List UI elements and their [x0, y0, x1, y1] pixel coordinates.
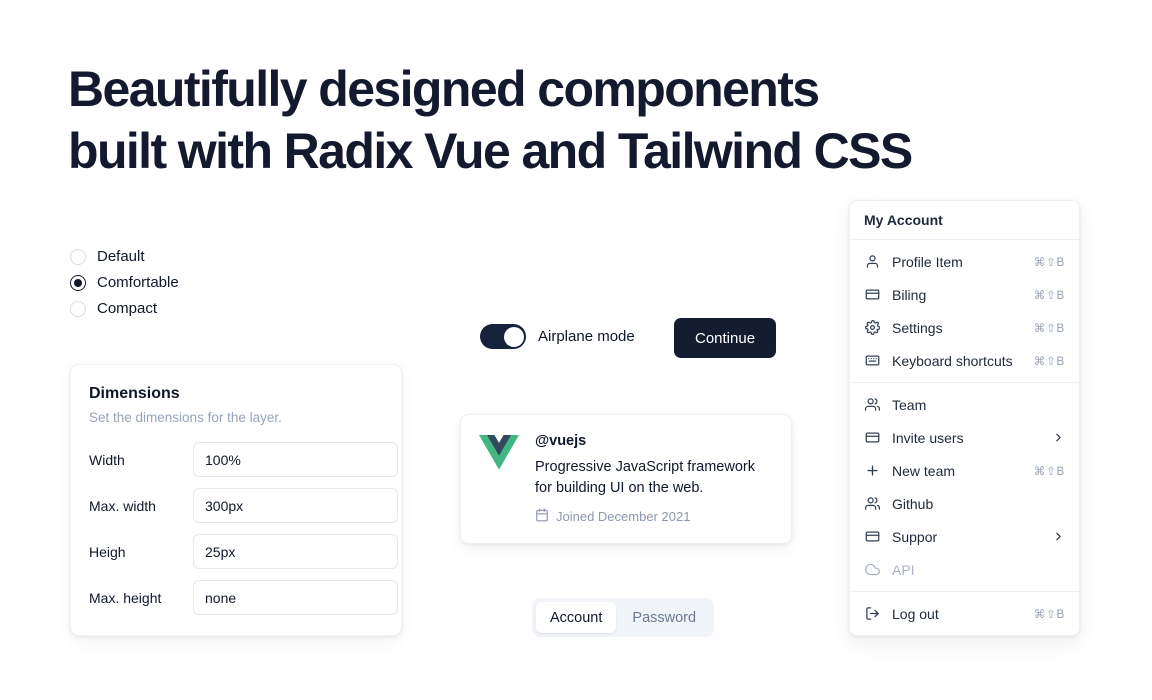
- menu-item-label-team: Team: [892, 397, 1053, 413]
- menu-item-team[interactable]: Team: [850, 388, 1079, 421]
- user-icon: [864, 254, 880, 270]
- dimensions-title: Dimensions: [89, 385, 383, 403]
- radio-indicator-comfortable[interactable]: [70, 275, 86, 291]
- dimensions-field-max-height: Max. height: [89, 580, 383, 615]
- menu-item-github[interactable]: Github: [850, 487, 1079, 520]
- cloud-icon: [864, 562, 880, 578]
- menu-item-keyboard-shortcuts[interactable]: Keyboard shortcuts ⌘⇧B: [850, 344, 1079, 377]
- gear-icon: [864, 320, 880, 336]
- users-icon: [864, 496, 880, 512]
- page-root: Beautifully designed components built wi…: [0, 0, 1152, 700]
- menu-group-team: Team Invite users: [850, 383, 1079, 591]
- radio-indicator-default[interactable]: [70, 249, 86, 265]
- menu-item-label-invite-users: Invite users: [892, 430, 1040, 446]
- radio-label-compact: Compact: [97, 300, 157, 317]
- chevron-right-icon: [1052, 530, 1065, 543]
- menu-item-label-billing: Biling: [892, 287, 1022, 303]
- credit-card-icon: [864, 529, 880, 545]
- hover-card-body: @vuejs Progressive JavaScript framework …: [535, 433, 773, 525]
- switch-thumb: [504, 327, 524, 347]
- input-height[interactable]: [193, 534, 398, 569]
- calendar-icon: [535, 508, 549, 525]
- menu-item-shortcut-keyboard-shortcuts: ⌘⇧B: [1034, 354, 1065, 368]
- dimensions-field-max-width: Max. width: [89, 488, 383, 523]
- label-height: Heigh: [89, 544, 193, 560]
- menu-group-session: Log out ⌘⇧B: [850, 592, 1079, 635]
- menu-item-label-log-out: Log out: [892, 606, 1022, 622]
- menu-item-log-out[interactable]: Log out ⌘⇧B: [850, 597, 1079, 630]
- hover-card-vuejs: @vuejs Progressive JavaScript framework …: [460, 414, 792, 544]
- input-width[interactable]: [193, 442, 398, 477]
- hover-card-joined: Joined December 2021: [535, 508, 773, 525]
- dimensions-subtitle: Set the dimensions for the layer.: [89, 410, 383, 425]
- menu-item-label-profile: Profile Item: [892, 254, 1022, 270]
- radio-indicator-compact[interactable]: [70, 301, 86, 317]
- label-width: Width: [89, 452, 193, 468]
- hover-card-description: Progressive JavaScript framework for bui…: [535, 457, 773, 499]
- credit-card-icon: [864, 430, 880, 446]
- menu-item-settings[interactable]: Settings ⌘⇧B: [850, 311, 1079, 344]
- radio-label-comfortable: Comfortable: [97, 274, 179, 291]
- menu-label-my-account: My Account: [850, 201, 1079, 239]
- dimensions-field-height: Heigh: [89, 534, 383, 569]
- label-max-height: Max. height: [89, 590, 193, 606]
- hero-heading-line-2: built with Radix Vue and Tailwind CSS: [68, 120, 1028, 182]
- menu-item-label-settings: Settings: [892, 320, 1022, 336]
- label-max-width: Max. width: [89, 498, 193, 514]
- menu-item-profile[interactable]: Profile Item ⌘⇧B: [850, 245, 1079, 278]
- radio-option-comfortable[interactable]: Comfortable: [70, 274, 179, 291]
- menu-item-support[interactable]: Suppor: [850, 520, 1079, 553]
- menu-item-shortcut-billing: ⌘⇧B: [1034, 288, 1065, 302]
- account-dropdown-menu: My Account Profile Item ⌘⇧B Biling: [849, 200, 1080, 636]
- menu-item-api: API: [850, 553, 1079, 586]
- credit-card-icon: [864, 287, 880, 303]
- airplane-mode-label: Airplane mode: [538, 328, 635, 345]
- vue-logo-icon: [479, 435, 519, 475]
- airplane-mode-switch[interactable]: [480, 324, 526, 349]
- radio-label-default: Default: [97, 248, 145, 265]
- menu-item-shortcut-new-team: ⌘⇧B: [1034, 464, 1065, 478]
- menu-item-shortcut-settings: ⌘⇧B: [1034, 321, 1065, 335]
- radio-option-compact[interactable]: Compact: [70, 300, 179, 317]
- menu-item-label-new-team: New team: [892, 463, 1022, 479]
- menu-item-billing[interactable]: Biling ⌘⇧B: [850, 278, 1079, 311]
- input-max-height[interactable]: [193, 580, 398, 615]
- dimensions-field-width: Width: [89, 442, 383, 477]
- menu-item-shortcut-profile: ⌘⇧B: [1034, 255, 1065, 269]
- airplane-mode-row: Airplane mode: [480, 324, 635, 349]
- menu-item-label-github: Github: [892, 496, 1053, 512]
- tabs: Account Password: [532, 598, 714, 637]
- hero-heading: Beautifully designed components built wi…: [68, 58, 1028, 182]
- hover-card-joined-text: Joined December 2021: [556, 509, 690, 524]
- radio-option-default[interactable]: Default: [70, 248, 179, 265]
- chevron-right-icon: [1052, 431, 1065, 444]
- menu-item-label-api: API: [892, 562, 1053, 578]
- menu-item-shortcut-log-out: ⌘⇧B: [1034, 607, 1065, 621]
- menu-item-new-team[interactable]: New team ⌘⇧B: [850, 454, 1079, 487]
- users-icon: [864, 397, 880, 413]
- input-max-width[interactable]: [193, 488, 398, 523]
- menu-item-label-support: Suppor: [892, 529, 1040, 545]
- menu-group-account: Profile Item ⌘⇧B Biling ⌘⇧B: [850, 240, 1079, 382]
- page-title: Beautifully designed components built wi…: [68, 58, 1028, 182]
- tab-password[interactable]: Password: [618, 602, 710, 633]
- menu-item-label-keyboard-shortcuts: Keyboard shortcuts: [892, 353, 1022, 369]
- logout-icon: [864, 606, 880, 622]
- continue-button[interactable]: Continue: [674, 318, 776, 358]
- dimensions-card: Dimensions Set the dimensions for the la…: [70, 364, 402, 636]
- hero-heading-line-1: Beautifully designed components: [68, 58, 1028, 120]
- radio-group: Default Comfortable Compact: [70, 248, 179, 317]
- plus-icon: [864, 463, 880, 479]
- tab-account[interactable]: Account: [536, 602, 616, 633]
- dimensions-field-list: Width Max. width Heigh Max. height: [89, 442, 383, 615]
- hover-card-handle: @vuejs: [535, 433, 773, 449]
- menu-item-invite-users[interactable]: Invite users: [850, 421, 1079, 454]
- keyboard-icon: [864, 353, 880, 369]
